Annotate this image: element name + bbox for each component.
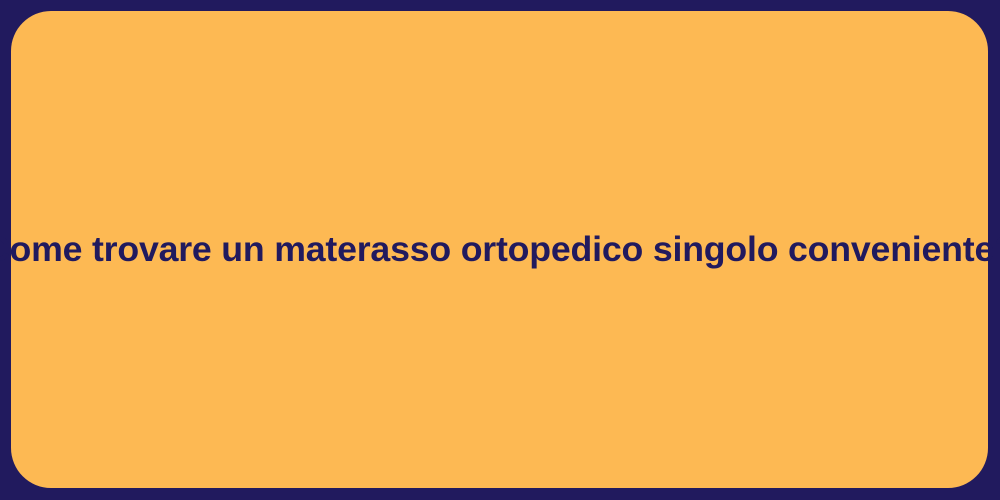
headline-text: Come trovare un materasso ortopedico sin… (0, 229, 1000, 270)
banner-card: Come trovare un materasso ortopedico sin… (11, 11, 988, 488)
banner-frame: Come trovare un materasso ortopedico sin… (0, 0, 1000, 500)
